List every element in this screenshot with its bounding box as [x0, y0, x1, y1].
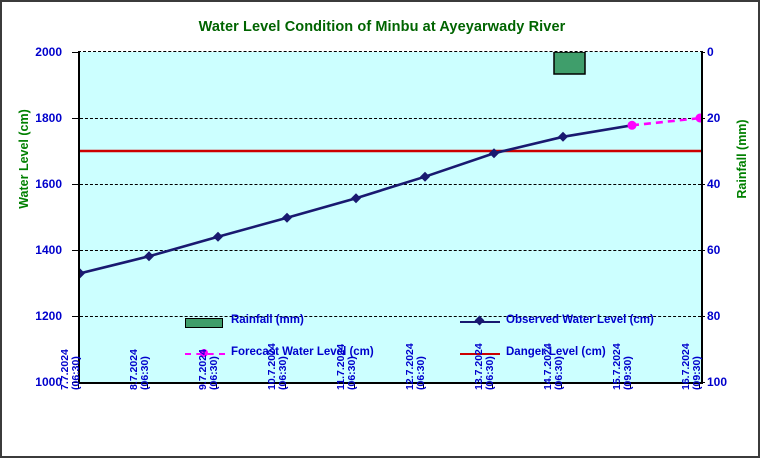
- x-axis-label-8-time: (09:30): [623, 300, 634, 390]
- y-axis-left-tick-1000: 1000: [16, 375, 62, 389]
- x-axis-label-1-time: (06:30): [140, 300, 151, 390]
- x-axis-label-9: 16.7.2024 (09:30): [681, 300, 703, 390]
- chart-frame: Water Level Condition of Minbu at Ayeyar…: [0, 0, 760, 458]
- x-axis-label-3: 10.7.2024 (06:30): [267, 300, 289, 390]
- x-axis-label-0-time: (06:30): [71, 300, 82, 390]
- x-axis-label-2: 9.7.2024 (06:30): [198, 300, 220, 390]
- x-axis-label-6: 13.7.2024 (06:30): [474, 300, 496, 390]
- y-axis-right-tick-100: 100: [707, 375, 753, 389]
- y-axis-right-tick-80: 80: [707, 309, 753, 323]
- x-axis-label-6-time: (06:30): [485, 300, 496, 390]
- x-axis-label-3-time: (06:30): [278, 300, 289, 390]
- x-axis-line: [78, 382, 703, 384]
- x-axis-label-2-time: (06:30): [209, 300, 220, 390]
- y-axis-left-tick-1200: 1200: [16, 309, 62, 323]
- x-axis-label-4: 11.7.2024 (06:30): [336, 300, 358, 390]
- x-axis-label-7: 14.7.2024 (06:30): [543, 300, 565, 390]
- x-axis-label-0: 7.7.2024 (06:30): [60, 300, 82, 390]
- forecast-markers: [628, 114, 702, 130]
- y-axis-left-title: Water Level (cm): [17, 59, 31, 259]
- plot-area: Rainfall (mm) Observed Water Level (cm) …: [78, 52, 703, 382]
- page-title: Water Level Condition of Minbu at Ayeyar…: [2, 19, 760, 35]
- observed-markers: [80, 132, 568, 279]
- x-axis-label-7-time: (06:30): [554, 300, 565, 390]
- legend: Rainfall (mm) Observed Water Level (cm) …: [80, 314, 701, 372]
- y-axis-right-tick-0: 0: [707, 45, 753, 59]
- x-axis-label-4-time: (06:30): [347, 300, 358, 390]
- x-axis-label-5: 12.7.2024 (06:30): [405, 300, 427, 390]
- x-axis-label-5-time: (06:30): [416, 300, 427, 390]
- x-axis-label-8: 15.7.2024 (09:30): [612, 300, 634, 390]
- rainfall-bar-14-7: [554, 52, 585, 74]
- y-axis-left-tick-2000: 2000: [16, 45, 62, 59]
- y-axis-right-title: Rainfall (mm): [735, 59, 749, 259]
- x-axis-label-9-time: (09:30): [692, 300, 703, 390]
- x-axis-label-1: 8.7.2024 (06:30): [129, 300, 151, 390]
- forecast-water-level-line: [632, 118, 701, 125]
